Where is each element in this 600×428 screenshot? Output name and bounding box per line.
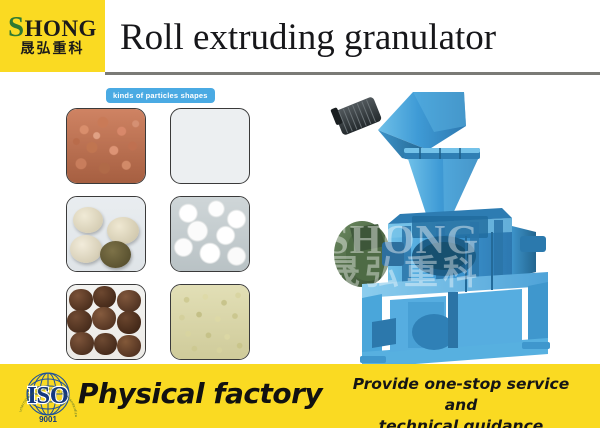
footer-tagline-line2: technical guidance <box>336 416 586 428</box>
particle-photo-round-pucks <box>66 196 146 272</box>
drive-motor-icon <box>330 96 382 136</box>
svg-text:ISO: ISO <box>27 383 68 409</box>
page-title: Roll extruding granulator <box>120 12 590 64</box>
footer-bar: ISO ISO International Organization for S… <box>0 364 600 428</box>
particle-image <box>67 197 145 271</box>
brand-logo-chinese: 晟弘重科 <box>21 42 85 57</box>
iso-9001-logo: ISO ISO International Organization for S… <box>12 367 84 425</box>
brand-logo: SHONG 晟弘重科 <box>0 0 105 72</box>
footer-tagline-line1: Provide one-stop service and <box>336 374 586 416</box>
brand-logo-rest: HONG <box>25 17 97 40</box>
particle-image <box>67 109 145 183</box>
particle-photo-orange-granules <box>170 108 250 184</box>
hopper-flange <box>404 148 480 159</box>
particle-image <box>67 285 145 359</box>
particle-photo-brown-briquettes <box>66 284 146 360</box>
particle-grid <box>66 108 250 356</box>
particle-image <box>171 197 249 271</box>
particle-image <box>171 109 249 183</box>
particles-badge: kinds of particles shapes <box>106 88 215 103</box>
particle-photo-white-spheres <box>170 196 250 272</box>
brand-logo-wordmark: SHONG <box>8 15 97 40</box>
machine-illustration <box>316 86 594 364</box>
particle-photo-terracotta-chunks <box>66 108 146 184</box>
particle-image <box>171 285 249 359</box>
brand-logo-initial: S <box>8 15 25 39</box>
poster-canvas: SHONG 晟弘重科 Roll extruding granulator kin… <box>0 0 600 428</box>
particle-photo-yellow-green-granules <box>170 284 250 360</box>
iso-number: 9001 <box>39 415 57 424</box>
footer-headline: Physical factory <box>78 377 322 411</box>
header-divider <box>105 72 600 75</box>
footer-tagline: Provide one-stop service and technical g… <box>336 374 586 428</box>
